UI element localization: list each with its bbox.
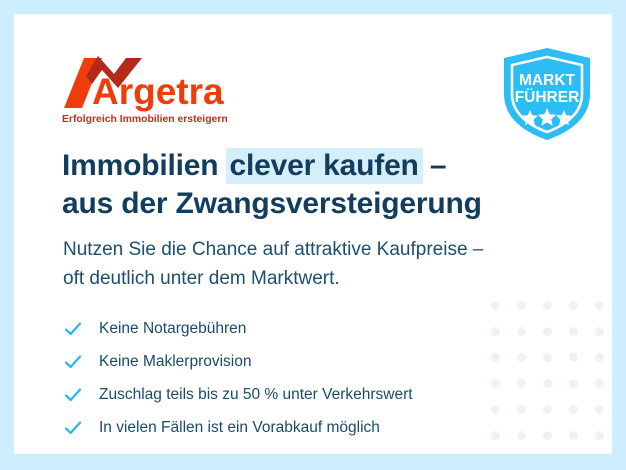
logo-wordmark: Argetra <box>92 71 224 112</box>
dot <box>569 379 578 388</box>
logo-tagline: Erfolgreich Immobilien ersteigern <box>62 114 228 125</box>
subtitle-line-1: Nutzen Sie die Chance auf attraktive Kau… <box>63 236 483 265</box>
check-icon <box>63 385 83 405</box>
dot <box>543 327 552 336</box>
dot <box>491 431 500 440</box>
badge-line2: FÜHRER <box>515 89 580 106</box>
headline-line-2: aus der Zwangsversteigerung <box>62 185 482 223</box>
dot <box>595 405 604 414</box>
dot <box>569 353 578 362</box>
dot <box>543 405 552 414</box>
list-item-label: In vielen Fällen ist ein Vorabkauf mögli… <box>99 419 380 437</box>
headline-line-1: Immobilien clever kaufen – <box>62 147 482 185</box>
dot <box>517 379 526 388</box>
page-title: Immobilien clever kaufen – aus der Zwang… <box>62 147 482 223</box>
dot <box>595 301 604 310</box>
check-icon <box>63 418 83 438</box>
check-icon <box>63 352 83 372</box>
dot <box>517 405 526 414</box>
list-item: Zuschlag teils bis zu 50 % unter Verkehr… <box>63 378 413 411</box>
subtitle-line-2: oft deutlich unter dem Marktwert. <box>63 265 483 294</box>
check-icon <box>63 319 83 339</box>
dot <box>569 327 578 336</box>
dot <box>491 327 500 336</box>
dot <box>543 431 552 440</box>
dot-grid-decoration <box>482 292 612 454</box>
headline-text-before: Immobilien <box>62 149 227 182</box>
argetra-logo[interactable]: Argetra Erfolgreich Immobilien ersteiger… <box>58 54 248 126</box>
dot <box>491 301 500 310</box>
badge-line1: MARKT <box>519 72 575 89</box>
dot <box>595 431 604 440</box>
dot <box>569 301 578 310</box>
page-subtitle: Nutzen Sie die Chance auf attraktive Kau… <box>63 236 483 294</box>
dot <box>491 353 500 362</box>
promo-banner: Argetra Erfolgreich Immobilien ersteiger… <box>0 0 626 470</box>
headline-text-after: – <box>422 149 447 182</box>
list-item: Keine Maklerprovision <box>63 345 413 378</box>
dot <box>543 301 552 310</box>
benefits-list: Keine Notargebühren Keine Maklerprovisio… <box>63 312 413 444</box>
list-item-label: Keine Maklerprovision <box>99 353 252 371</box>
dot <box>491 405 500 414</box>
market-leader-badge: MARKT FÜHRER <box>498 46 596 142</box>
list-item-label: Zuschlag teils bis zu 50 % unter Verkehr… <box>99 386 413 404</box>
dot <box>491 379 500 388</box>
dot <box>543 379 552 388</box>
list-item: In vielen Fällen ist ein Vorabkauf mögli… <box>63 411 413 444</box>
dot <box>517 431 526 440</box>
dot <box>595 327 604 336</box>
dot <box>569 405 578 414</box>
dot <box>517 353 526 362</box>
list-item-label: Keine Notargebühren <box>99 320 246 338</box>
list-item: Keine Notargebühren <box>63 312 413 345</box>
headline-highlight: clever kaufen <box>226 148 423 184</box>
banner-card: Argetra Erfolgreich Immobilien ersteiger… <box>14 14 612 454</box>
dot <box>569 431 578 440</box>
dot <box>595 353 604 362</box>
dot <box>517 301 526 310</box>
dot <box>595 379 604 388</box>
dot <box>543 353 552 362</box>
dot <box>517 327 526 336</box>
